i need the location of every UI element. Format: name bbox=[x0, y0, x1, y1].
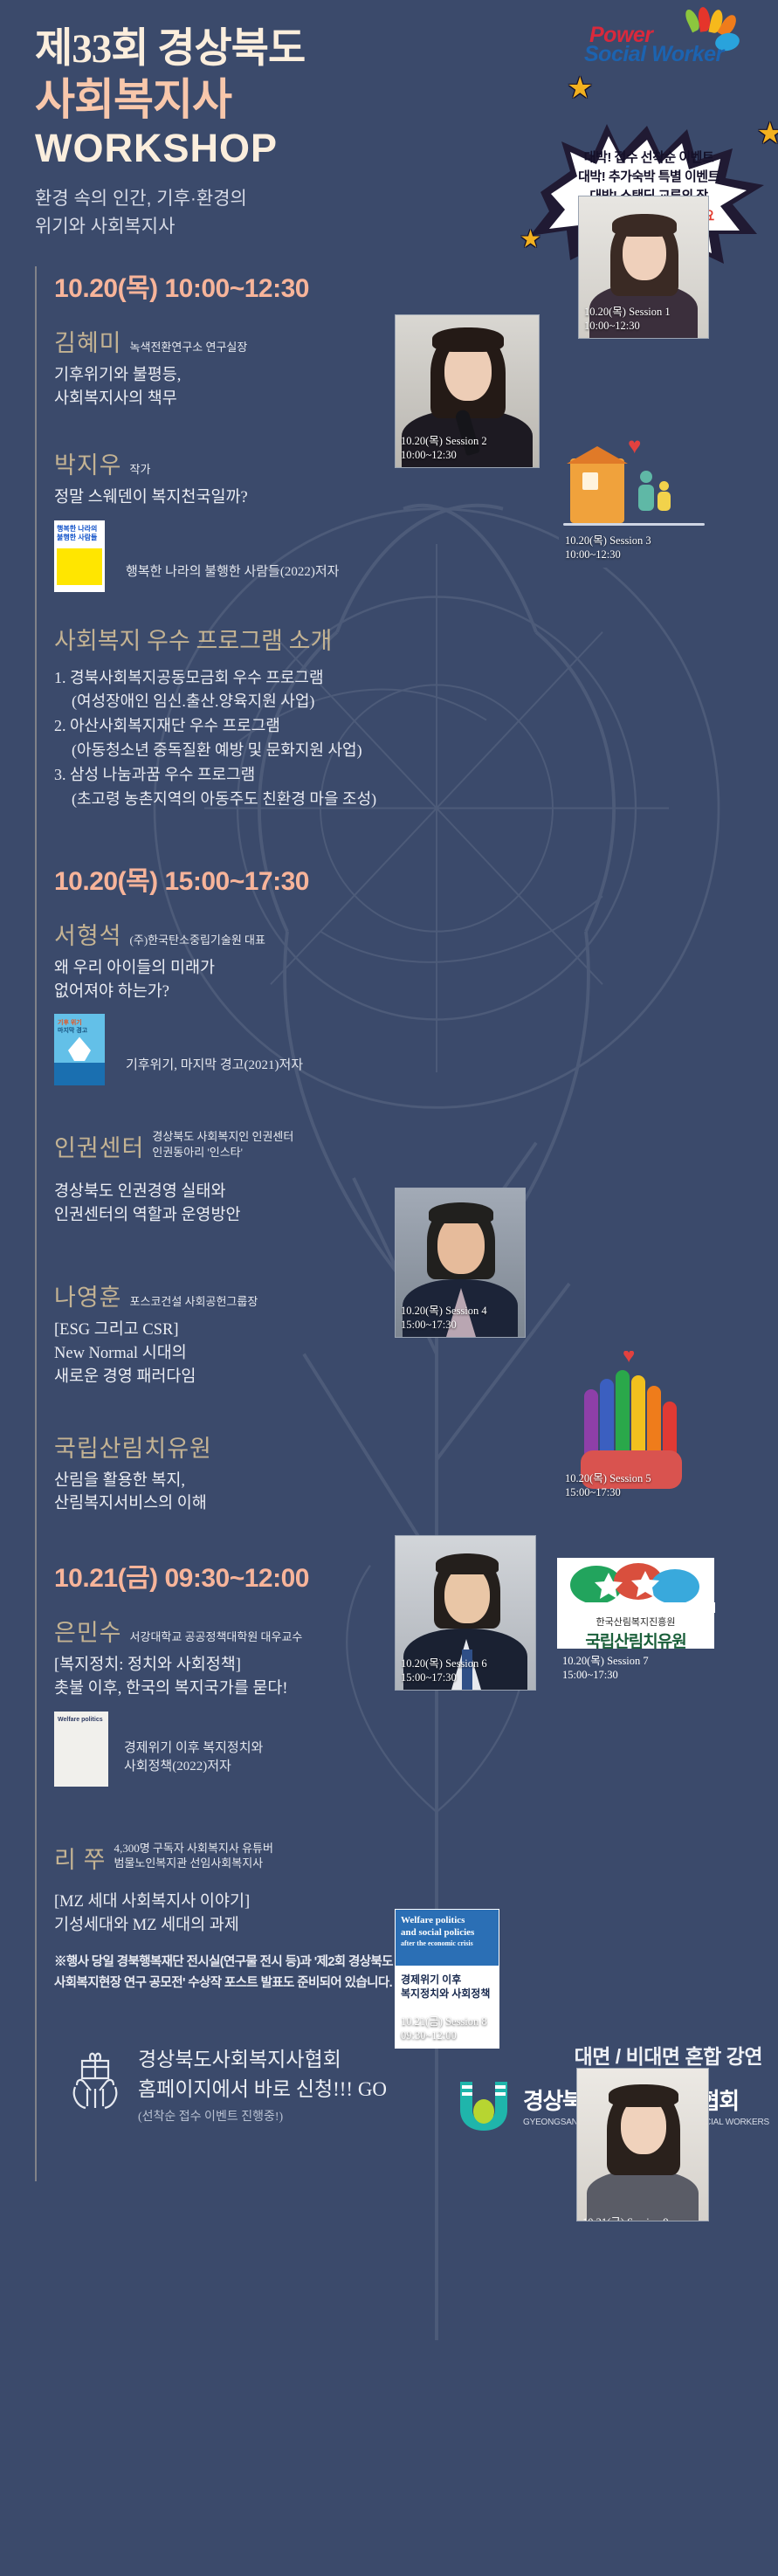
caption-line1: 10.20(목) Session 3 bbox=[565, 534, 705, 548]
subtitle-line1: 환경 속의 인간, 기후·환경의 bbox=[35, 185, 410, 213]
caption-line2: 15:00~17:30 bbox=[562, 1668, 649, 1682]
caption-line2: 15:00~17:30 bbox=[401, 1670, 532, 1684]
house-window bbox=[582, 472, 598, 490]
book-cover-line1: Welfare politics bbox=[58, 1717, 105, 1724]
speaker-name: 서형석 bbox=[54, 917, 122, 951]
program-title: 경북사회복지공동모금회 우수 프로그램 bbox=[70, 669, 324, 686]
caption-line2: 09:30~12:00 bbox=[401, 2028, 495, 2042]
house-roof bbox=[567, 446, 628, 464]
book-cover-thumbnail: 행복한 나라의 불행한 사람들 bbox=[54, 520, 105, 592]
session-card-caption: 10.20(목) Session 2 10:00~12:30 bbox=[401, 434, 535, 462]
person-figure-adult bbox=[640, 471, 652, 483]
book-caption: 경제위기 이후 복지정치와 사회정책(2022)저자 bbox=[124, 1738, 263, 1787]
forest-healing-logo-card: 한국산림복지진흥원 국립산림치유원 bbox=[557, 1558, 714, 1649]
talk-title-line2: 없어져야 하는가? bbox=[54, 981, 778, 1004]
book-kr-line1: 경제위기 이후 bbox=[401, 1973, 493, 1987]
footer-organization: 경상북도사회복지사협회 bbox=[138, 2045, 387, 2074]
session-photo-card-5: ♥ 10.20(목) Session 5 15:00~17:30 bbox=[559, 1350, 707, 1498]
book-en-line2: and social policies bbox=[401, 1927, 493, 1939]
session-photo-card-3: ♥ 10.20(목) Session 3 10:00~12:30 bbox=[559, 435, 709, 568]
caption-line1: 10.20(목) Session 4 bbox=[401, 1304, 521, 1318]
book-caption-line1: 경제위기 이후 복지정치와 bbox=[124, 1738, 263, 1756]
delivery-mode-label: 대면 / 비대면 혼합 강연 bbox=[575, 2040, 762, 2070]
speaker-name: 국립산림치유원 bbox=[54, 1429, 212, 1464]
caption-line2: 10:00~12:30 bbox=[584, 319, 705, 333]
book-cover-en-title: Welfare politics and social policies aft… bbox=[401, 1915, 493, 1948]
speaker-name: 김혜미 bbox=[54, 324, 122, 358]
affiliation-line1: 경상북도 사회복지인 인권센터 bbox=[152, 1129, 293, 1145]
book-kr-line2: 복지정치와 사회정책 bbox=[401, 1987, 493, 2001]
portrait-body bbox=[587, 2170, 699, 2221]
session-photo-card-9: 10.21(금) Session 9 09:30~12:00 bbox=[576, 2068, 709, 2221]
forest-healing-logo-icon bbox=[558, 1559, 715, 1613]
logo-text-social-worker: Social Worker bbox=[584, 42, 724, 67]
book-cover-thumbnail: 기후 위기 마지막 경고 bbox=[54, 1014, 105, 1085]
program-subtitle: (아동청소년 중독질환 예방 및 문화지원 사업) bbox=[54, 739, 778, 763]
star-icon-right: ★ bbox=[757, 119, 778, 148]
caption-line1: 10.21(금) Session 8 bbox=[401, 2015, 495, 2028]
caption-line2: 10:00~12:30 bbox=[565, 548, 705, 561]
speaker-affiliation: 4,300명 구독자 사회복지사 유튜버 범물노인복지관 선임사회복지사 bbox=[114, 1841, 273, 1871]
speaker-name: 인권센터 bbox=[54, 1129, 144, 1163]
speaker-affiliation: 녹색전환연구소 연구실장 bbox=[130, 340, 248, 355]
portrait-hair-front bbox=[432, 327, 504, 352]
program-number: 1. bbox=[54, 669, 66, 686]
burst-line-2: 대박! 추가숙박 특별 이벤트 bbox=[535, 168, 762, 187]
book-caption: 기후위기, 마지막 경고(2021)저자 bbox=[126, 1055, 303, 1085]
session-time-heading-2: 10.20(목) 15:00~17:30 bbox=[54, 859, 778, 898]
book-cover-thumbnail-en: Welfare politics bbox=[54, 1712, 108, 1787]
book-row: 기후 위기 마지막 경고 기후위기, 마지막 경고(2021)저자 bbox=[54, 1014, 778, 1085]
affiliation-line1: 4,300명 구독자 사회복지사 유튜버 bbox=[114, 1841, 273, 1856]
book-row: Welfare politics 경제위기 이후 복지정치와 사회정책(2022… bbox=[54, 1712, 778, 1787]
house-illustration bbox=[570, 458, 624, 523]
talk-title-line1: 왜 우리 아이들의 미래가 bbox=[54, 957, 778, 981]
program-list-item: 2. 아산사회복지재단 우수 프로그램 (아동청소년 중독질환 예방 및 문화지… bbox=[54, 714, 778, 763]
caption-line1: 10.20(목) Session 5 bbox=[565, 1471, 703, 1485]
footer-apply-cta[interactable]: 홈페이지에서 바로 신청!!! GO bbox=[138, 2075, 387, 2104]
sea-color-block bbox=[54, 1063, 105, 1085]
forest-logo-text: 한국산림복지진흥원 국립산림치유원 bbox=[558, 1613, 713, 1652]
forest-logo-line1: 한국산림복지진흥원 bbox=[558, 1615, 713, 1629]
speaker-affiliation: 경상북도 사회복지인 인권센터 인권동아리 '인스타' bbox=[152, 1129, 293, 1160]
session-card-caption: 10.21(금) Session 9 09:30~12:00 bbox=[582, 2215, 705, 2221]
portrait-hair-front bbox=[429, 1202, 493, 1223]
ground-line bbox=[563, 523, 705, 526]
speaker-name: 나영훈 bbox=[54, 1278, 122, 1312]
speaker-name: 은민수 bbox=[54, 1614, 122, 1648]
program-subtitle: (여성장애인 임신.출산.양육지원 사업) bbox=[54, 690, 778, 714]
caption-line1: 10.20(목) Session 2 bbox=[401, 434, 535, 448]
caption-line1: 10.21(금) Session 9 bbox=[582, 2215, 705, 2221]
affiliation-line2: 범물노인복지관 선임사회복지사 bbox=[114, 1856, 273, 1871]
session-photo-card-2: 10.20(목) Session 2 10:00~12:30 bbox=[395, 314, 540, 468]
program-intro-block: 사회복지 우수 프로그램 소개 1. 경북사회복지공동모금회 우수 프로그램 (… bbox=[35, 622, 778, 812]
footer-apply-block[interactable]: 경상북도사회복지사협회 홈페이지에서 바로 신청!!! GO (선착순 접수 이… bbox=[70, 2045, 387, 2125]
speaker-affiliation: 서강대학교 공공정책대학원 대우교수 bbox=[130, 1629, 303, 1645]
book-cover-kr-title: 경제위기 이후 복지정치와 사회정책 bbox=[401, 1973, 493, 2001]
poster-root: 제33회 경상북도 사회복지사 WORKSHOP 환경 속의 인간, 기후·환경… bbox=[0, 0, 778, 2576]
program-list-item: 1. 경북사회복지공동모금회 우수 프로그램 (여성장애인 임신.출산.양육지원… bbox=[54, 666, 778, 715]
book-en-line1: Welfare politics bbox=[401, 1915, 493, 1927]
session-card-caption: 10.20(목) Session 5 15:00~17:30 bbox=[565, 1471, 703, 1498]
portrait-hair-front bbox=[609, 2084, 678, 2107]
session-card-caption: 10.20(목) Session 1 10:00~12:30 bbox=[584, 305, 705, 333]
forest-logo-line2: 국립산림치유원 bbox=[558, 1629, 713, 1652]
book-cover-color-block bbox=[57, 548, 102, 585]
speaker-name: 박지우 bbox=[54, 446, 122, 480]
speaker-portrait bbox=[577, 2069, 708, 2221]
person-body-child bbox=[658, 492, 671, 511]
burst-line-1: 대박! 접수 선착순 이벤트 bbox=[535, 148, 762, 168]
book-caption: 행복한 나라의 불행한 사람들(2022)저자 bbox=[126, 561, 339, 592]
session-card-caption: 10.20(목) Session 3 10:00~12:30 bbox=[565, 534, 705, 561]
caption-line1: 10.20(목) Session 1 bbox=[584, 305, 705, 319]
portrait-hair-front bbox=[612, 214, 677, 237]
program-number: 3. bbox=[54, 766, 66, 783]
heart-icon: ♥ bbox=[628, 435, 641, 457]
session-photo-card-1: 10.20(목) Session 1 10:00~12:30 bbox=[578, 196, 709, 339]
section-heading-programs: 사회복지 우수 프로그램 소개 bbox=[54, 622, 778, 656]
portrait-hair-front bbox=[436, 1553, 499, 1574]
speaker-affiliation: (주)한국탄소중립기술원 대표 bbox=[130, 933, 265, 948]
power-social-worker-logo: Power Social Worker bbox=[582, 7, 766, 73]
footer-note: (선착순 접수 이벤트 진행중!) bbox=[138, 2107, 387, 2125]
caption-line2: 15:00~17:30 bbox=[565, 1485, 703, 1498]
association-u-mark-icon bbox=[455, 2078, 513, 2132]
session-card-caption-7: 10.20(목) Session 7 15:00~17:30 bbox=[562, 1654, 649, 1683]
star-icon-top: ★ bbox=[567, 73, 593, 103]
session-card-caption: 10.20(목) Session 4 15:00~17:30 bbox=[401, 1304, 521, 1332]
speaker-name: 리 쭈 bbox=[54, 1841, 106, 1875]
program-list-item: 3. 삼성 나눔과꿈 우수 프로그램 (초고령 농촌지역의 아동주도 친환경 마… bbox=[54, 763, 778, 812]
book-cover-line2: 마지막 경고 bbox=[58, 1026, 87, 1035]
subtitle-line2: 위기와 사회복지사 bbox=[35, 213, 410, 241]
caption-line2: 15:00~17:30 bbox=[401, 1318, 521, 1332]
book-en-line3: after the economic crisis bbox=[401, 1939, 493, 1948]
book-cover-line2: 불행한 사람들 bbox=[57, 533, 97, 542]
caption-line1: 10.20(목) Session 6 bbox=[401, 1656, 532, 1670]
session-photo-card-8: Welfare politics and social policies aft… bbox=[395, 1909, 499, 2049]
portrait-face bbox=[437, 1215, 485, 1274]
program-subtitle: (초고령 농촌지역의 아동주도 친환경 마을 조성) bbox=[54, 788, 778, 812]
speaker-affiliation: 작가 bbox=[130, 462, 151, 478]
person-body-adult bbox=[638, 485, 654, 511]
star-icon-bottom: ★ bbox=[520, 227, 541, 251]
person-figure-child bbox=[659, 481, 669, 491]
session-photo-card-4: 10.20(목) Session 4 15:00~17:30 bbox=[395, 1188, 526, 1338]
speaker-affiliation: 포스코건설 사회공헌그룹장 bbox=[130, 1294, 258, 1310]
affiliation-line2: 인권동아리 '인스타' bbox=[152, 1145, 293, 1161]
speaker-entry-seo-hyeongseok: 서형석 (주)한국탄소중립기술원 대표 왜 우리 아이들의 미래가 없어져야 하… bbox=[54, 917, 778, 1086]
poster-subtitle: 환경 속의 인간, 기후·환경의 위기와 사회복지사 bbox=[35, 185, 410, 240]
iceberg-illustration bbox=[68, 1037, 91, 1061]
book-caption-line2: 사회정책(2022)저자 bbox=[124, 1756, 263, 1774]
program-number: 2. bbox=[54, 717, 66, 734]
session-photo-card-6: 10.20(목) Session 6 15:00~17:30 bbox=[395, 1535, 536, 1691]
caption-line2: 10:00~12:30 bbox=[401, 448, 535, 462]
caption-line1: 10.20(목) Session 7 bbox=[562, 1654, 649, 1668]
session-card-caption: 10.20(목) Session 6 15:00~17:30 bbox=[401, 1656, 532, 1684]
program-title: 삼성 나눔과꿈 우수 프로그램 bbox=[70, 766, 255, 783]
session-card-caption: 10.21(금) Session 8 09:30~12:00 bbox=[401, 2015, 495, 2042]
program-title: 아산사회복지재단 우수 프로그램 bbox=[70, 717, 280, 734]
gift-hands-icon bbox=[70, 2045, 124, 2110]
program-list: 1. 경북사회복지공동모금회 우수 프로그램 (여성장애인 임신.출산.양육지원… bbox=[54, 666, 778, 812]
